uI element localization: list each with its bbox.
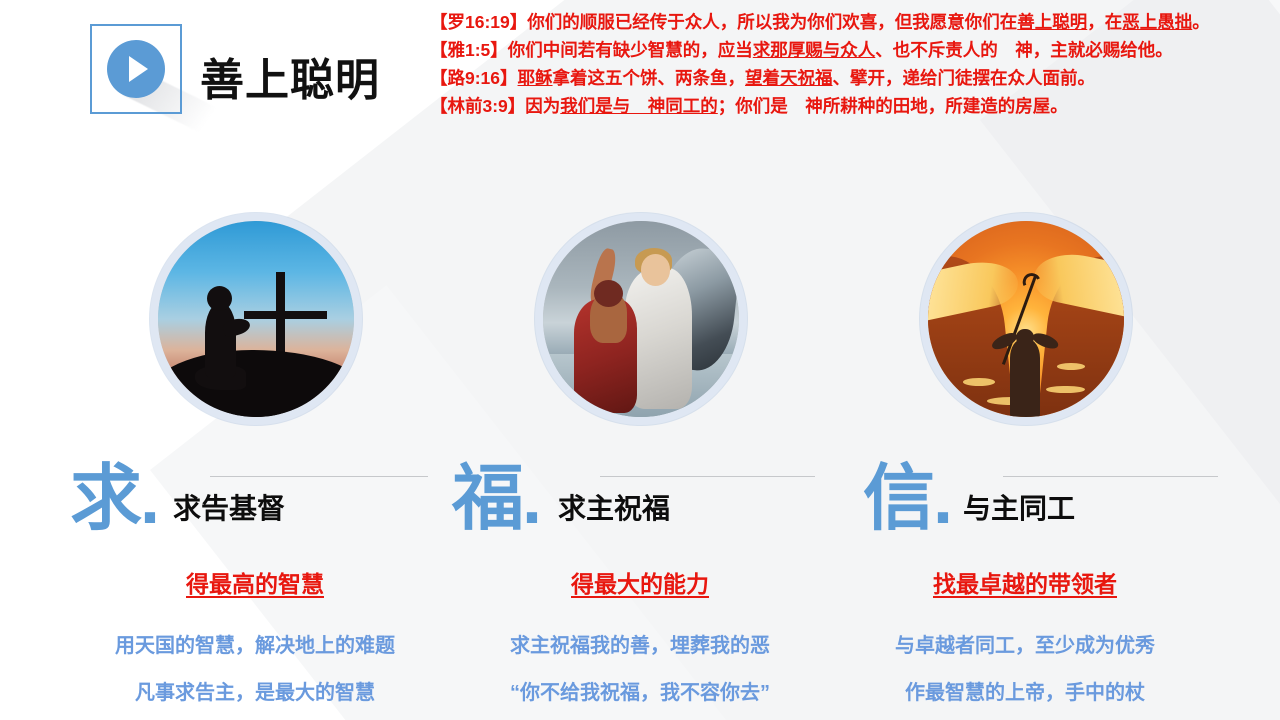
column-subtitle: 求告基督 <box>173 495 285 523</box>
heading-divider <box>210 476 428 477</box>
column-big-char: 福. <box>452 463 540 535</box>
page-title: 善上聪明 <box>200 44 380 108</box>
body-line: 求主祝福我的善，埋葬我的恶 <box>430 623 850 670</box>
column-body-text: 与卓越者同工，至少成为优秀 作最智慧的上帝，手中的杖 <box>815 623 1235 717</box>
moses-parting-sea-image <box>920 213 1132 425</box>
praying-silhouette-art <box>158 221 354 417</box>
column-qiu: 求. 求告基督 得最高的智慧 用天国的智慧，解决地上的难题 凡事求告主，是最大的… <box>45 205 465 720</box>
column-red-heading: 找最卓越的带领者 <box>815 565 1235 599</box>
body-line: 凡事求告主，是最大的智慧 <box>45 670 465 717</box>
body-line: 用天国的智慧，解决地上的难题 <box>45 623 465 670</box>
column-subtitle: 求主祝福 <box>558 495 670 523</box>
column-body-text: 求主祝福我的善，埋葬我的恶 “你不给我祝福，我不容你去” <box>430 623 850 717</box>
jacob-wrestling-angel-image <box>535 213 747 425</box>
column-red-heading: 得最高的智慧 <box>45 565 465 599</box>
image-clip <box>928 221 1124 417</box>
logo <box>90 24 186 118</box>
body-line: 作最智慧的上帝，手中的杖 <box>815 670 1235 717</box>
parting-sea-art <box>928 221 1124 417</box>
column-xin: 信. 与主同工 找最卓越的带领者 与卓越者同工，至少成为优秀 作最智慧的上帝，手… <box>815 205 1235 720</box>
slide: 善上聪明 【罗16:19】你们的顺服已经传于众人，所以我为你们欢喜，但我愿意你们… <box>0 0 1280 720</box>
image-clip <box>158 221 354 417</box>
body-line: “你不给我祝福，我不容你去” <box>430 670 850 717</box>
column-red-heading: 得最大的能力 <box>430 565 850 599</box>
wrestling-angel-art <box>543 221 739 417</box>
praying-silhouette-cross-image <box>150 213 362 425</box>
scripture-line: 【林前3:9】因为我们是与 神同工的；你们是 神所耕种的田地，所建造的房屋。 <box>430 92 1242 120</box>
column-big-char: 求. <box>70 463 158 535</box>
heading-divider <box>1003 476 1218 477</box>
column-big-char: 信. <box>863 463 951 535</box>
column-fu: 福. 求主祝福 得最大的能力 求主祝福我的善，埋葬我的恶 “你不给我祝福，我不容… <box>430 205 850 720</box>
column-subtitle: 与主同工 <box>963 495 1075 523</box>
columns-container: 求. 求告基督 得最高的智慧 用天国的智慧，解决地上的难题 凡事求告主，是最大的… <box>0 205 1280 720</box>
scripture-block: 【罗16:19】你们的顺服已经传于众人，所以我为你们欢喜，但我愿意你们在善上聪明… <box>430 8 1242 120</box>
column-body-text: 用天国的智慧，解决地上的难题 凡事求告主，是最大的智慧 <box>45 623 465 717</box>
heading-divider <box>600 476 815 477</box>
play-circle-icon <box>107 40 165 98</box>
scripture-line: 【雅1:5】你们中间若有缺少智慧的，应当求那厚赐与众人、也不斥责人的 神，主就必… <box>430 36 1242 64</box>
scripture-line: 【罗16:19】你们的顺服已经传于众人，所以我为你们欢喜，但我愿意你们在善上聪明… <box>430 8 1242 36</box>
body-line: 与卓越者同工，至少成为优秀 <box>815 623 1235 670</box>
image-clip <box>543 221 739 417</box>
scripture-line: 【路9:16】耶稣拿着这五个饼、两条鱼，望着天祝福、擘开，递给门徒摆在众人面前。 <box>430 64 1242 92</box>
slide-header: 善上聪明 【罗16:19】你们的顺服已经传于众人，所以我为你们欢喜，但我愿意你们… <box>0 0 1280 200</box>
